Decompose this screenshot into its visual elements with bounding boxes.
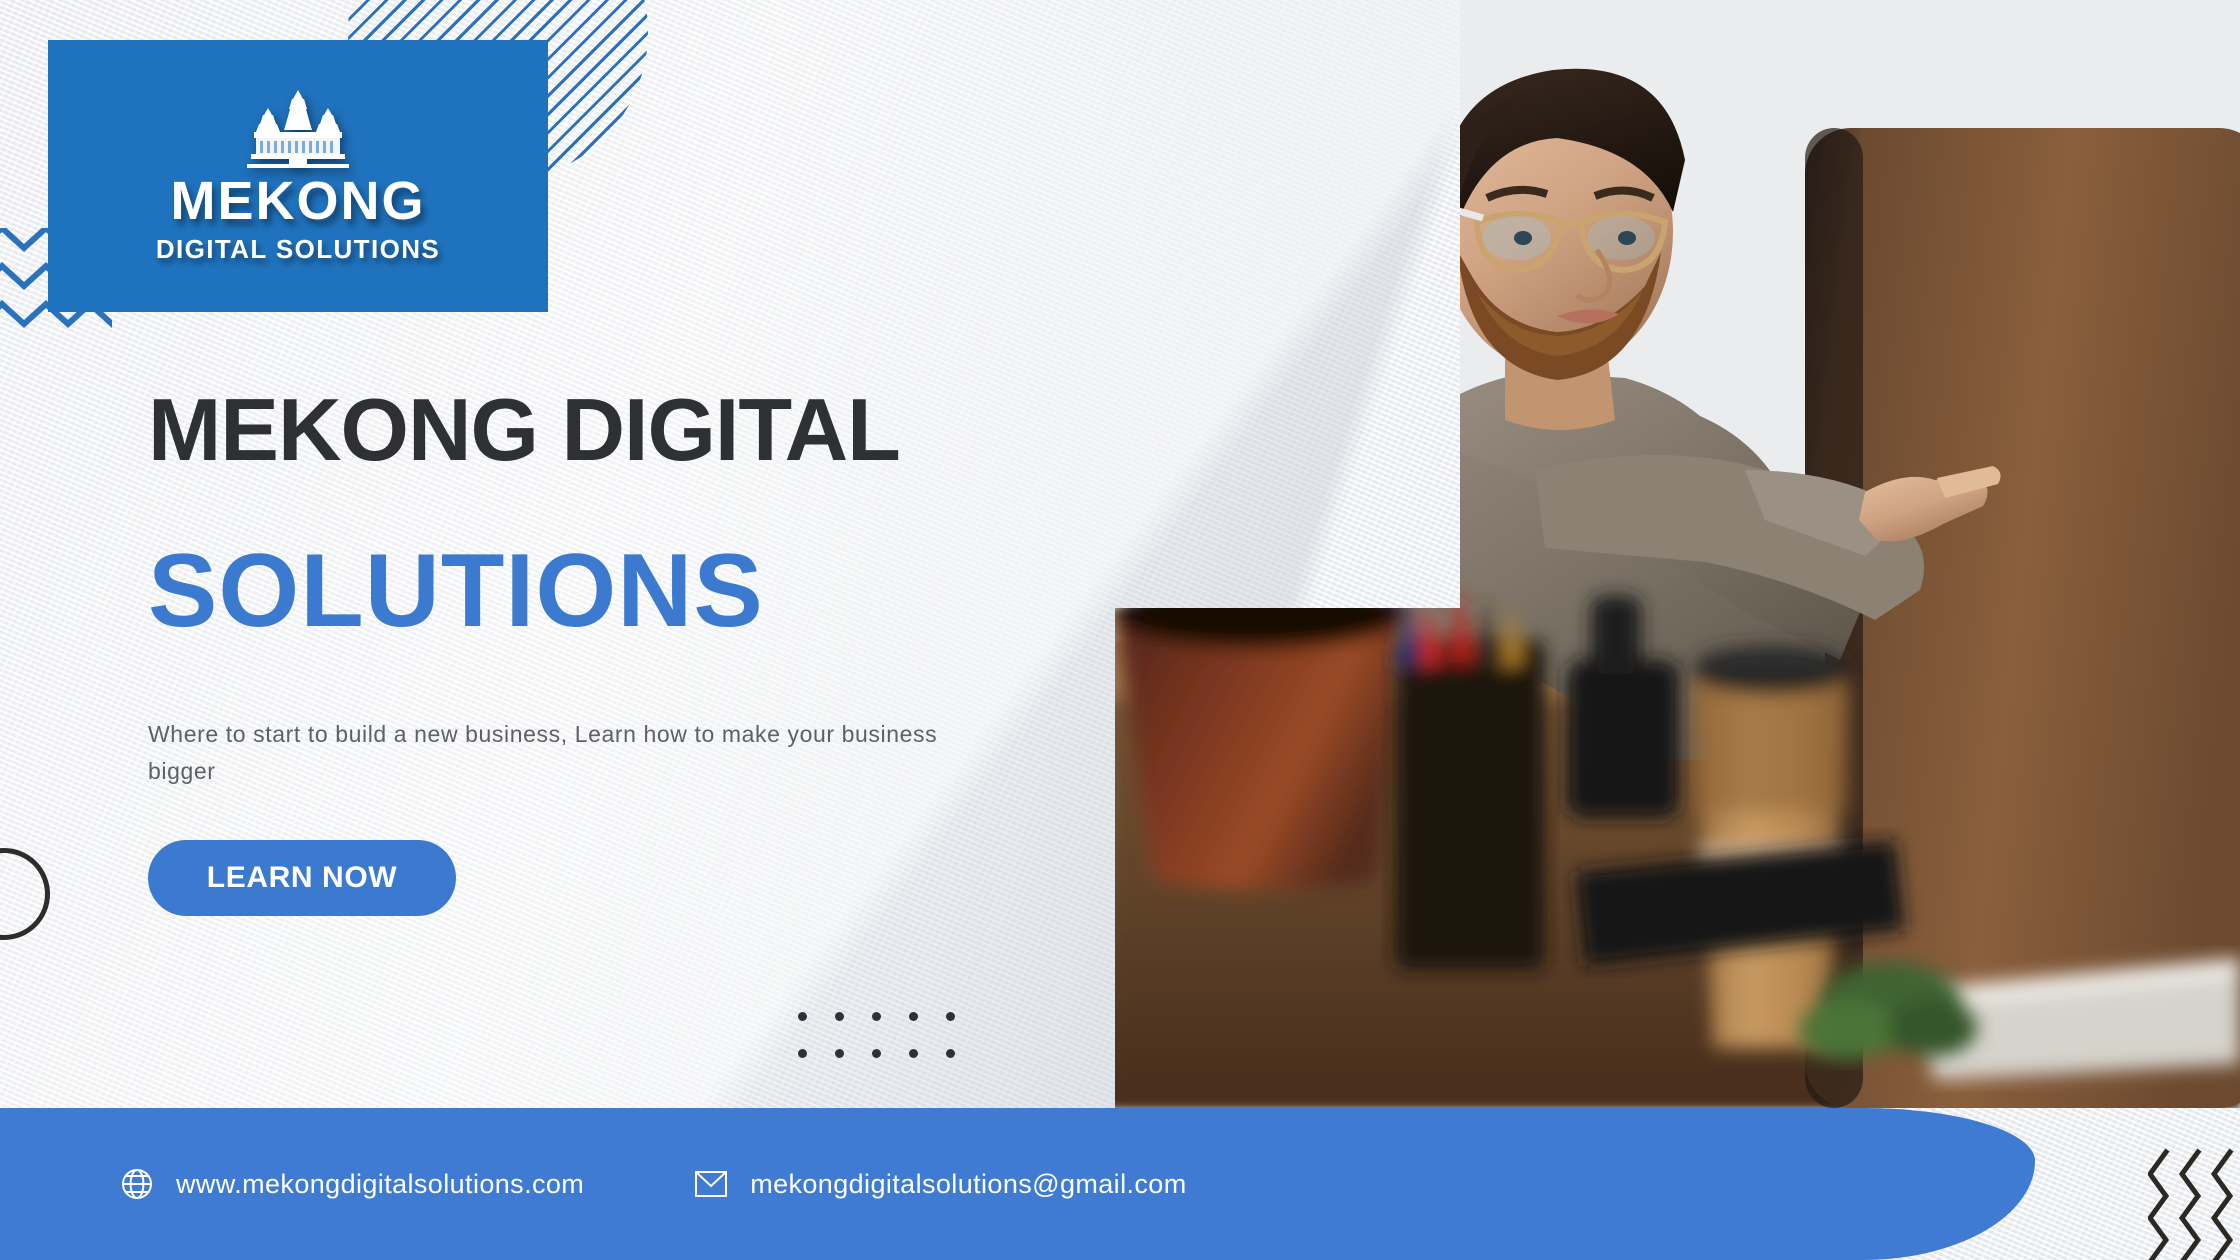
page-title-line-2: SOLUTIONS [148,537,1148,646]
hero-content: MEKONG DIGITAL SOLUTIONS Where to start … [148,385,1148,916]
contact-footer: www.mekongdigitalsolutions.com mekongdig… [0,1108,2035,1260]
email-contact[interactable]: mekongdigitalsolutions@gmail.com [694,1169,1186,1200]
dot-grid-bottom [798,1012,983,1086]
website-contact[interactable]: www.mekongdigitalsolutions.com [120,1167,584,1201]
logo-tagline: DIGITAL SOLUTIONS [156,234,440,265]
globe-icon [120,1167,154,1201]
website-url: www.mekongdigitalsolutions.com [176,1169,584,1200]
page-title-line-1: MEKONG DIGITAL [148,385,1148,475]
hero-photo [1105,0,2240,1108]
brand-logo-badge[interactable]: MEKONG DIGITAL SOLUTIONS [48,40,548,312]
promo-banner: MEKONG DIGITAL SOLUTIONS MEKONG DIGITAL … [0,0,2240,1260]
envelope-icon [694,1169,728,1199]
zigzag-lines-bottom-right-icon [2148,1148,2240,1260]
angkor-wat-temple-icon [245,88,351,170]
hero-subtitle: Where to start to build a new business, … [148,716,1008,791]
learn-now-button[interactable]: LEARN NOW [148,840,456,916]
email-address: mekongdigitalsolutions@gmail.com [750,1169,1186,1200]
logo-name: MEKONG [171,174,426,228]
